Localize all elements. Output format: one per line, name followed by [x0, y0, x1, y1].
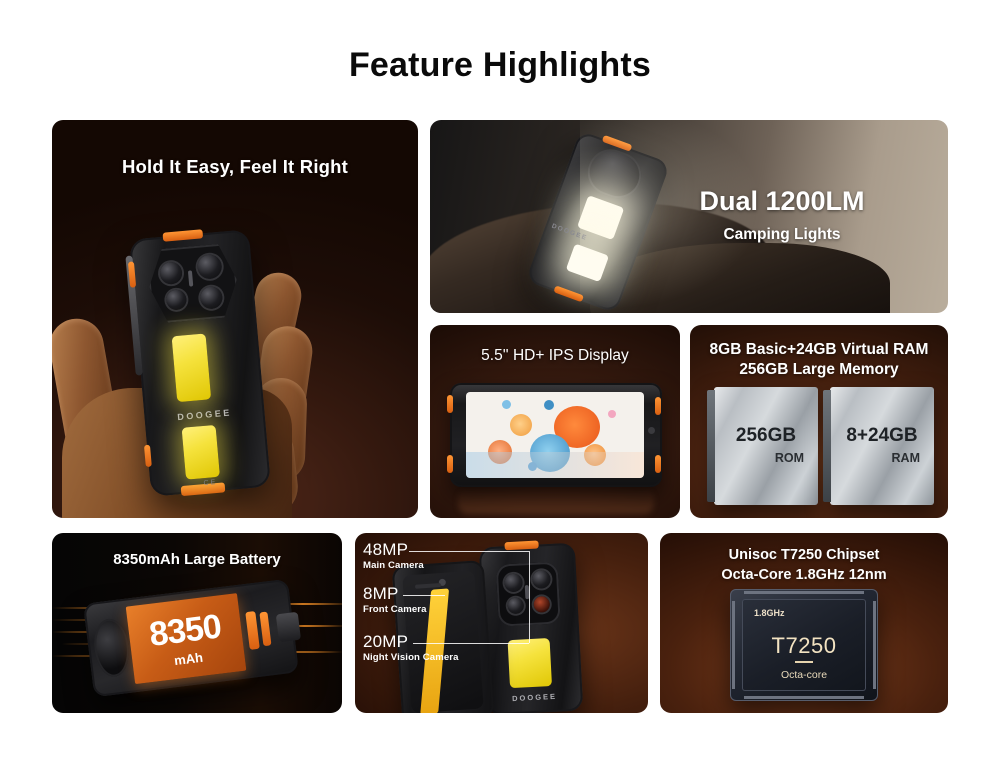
panel-camping-lights: DOOGEE Dual 1200LM Camping Lights [430, 120, 948, 313]
callout-8mp-label: Front Camera [363, 604, 427, 615]
memory-card-ram: 8+24GB RAM [830, 387, 934, 505]
phone-screen [466, 392, 644, 478]
camera-module [146, 243, 240, 324]
memory-headline-line2: 256GB Large Memory [690, 361, 948, 379]
leader-line-48mp [409, 551, 529, 552]
led-light-lower [182, 425, 220, 480]
callout-48mp-value: 48MP [363, 541, 424, 559]
memory-headline-line1: 8GB Basic+24GB Virtual RAM [690, 341, 948, 359]
rom-capacity: 256GB [714, 425, 818, 447]
callout-20mp-label: Night Vision Camera [363, 652, 459, 663]
chipset-name: T7250 [742, 633, 866, 659]
camera-callout-20mp: 20MP Night Vision Camera [363, 633, 459, 663]
rugged-phone-back: DOOGEE CE [129, 229, 271, 496]
ram-type: RAM [830, 451, 934, 465]
camera-phone-brand: DOOGEE [486, 690, 582, 704]
panel-cameras: DOOGEE 48MP Main Camera 8MP Front Camera… [355, 533, 648, 713]
camping-headline: Dual 1200LM [632, 186, 932, 217]
chipset-die: 1.8GHz T7250 Octa-core [742, 599, 866, 691]
phone-brand-label: DOOGEE [144, 405, 264, 425]
chipset-illustration: 1.8GHz T7250 Octa-core [730, 589, 878, 701]
led-light-upper [172, 333, 212, 402]
chipset-headline-line2: Octa-Core 1.8GHz 12nm [660, 567, 948, 583]
chipset-frequency: 1.8GHz [754, 608, 785, 618]
callout-20mp-value: 20MP [363, 633, 459, 651]
camera-callout-8mp: 8MP Front Camera [363, 585, 427, 615]
camera-phone-led [508, 638, 552, 688]
panel-battery: 8350mAh Large Battery 8350 mAh [52, 533, 342, 713]
memory-card-rom: 256GB ROM [714, 387, 818, 505]
battery-block: 8350 mAh [126, 593, 247, 684]
hand-illustration: DOOGEE CE [52, 198, 418, 518]
hold-it-easy-headline: Hold It Easy, Feel It Right [52, 156, 418, 178]
chipset-headline-line1: Unisoc T7250 Chipset [660, 547, 948, 563]
leader-line-48mp-drop [529, 551, 530, 591]
chipset-divider [795, 661, 813, 663]
camera-callout-48mp: 48MP Main Camera [363, 541, 424, 571]
rom-type: ROM [714, 451, 818, 465]
battery-phone: 8350 mAh [83, 579, 299, 697]
camping-subtitle: Camping Lights [632, 226, 932, 244]
panel-display: 5.5'' HD+ IPS Display [430, 325, 680, 518]
battery-headline: 8350mAh Large Battery [52, 551, 342, 568]
leader-line-20mp-rise [529, 591, 530, 643]
camera-phone-back: DOOGEE [479, 543, 584, 713]
panel-hold-it-easy: Hold It Easy, Feel It Right [52, 120, 418, 518]
speaker-grille [91, 617, 132, 679]
feature-highlights-page: Feature Highlights Hold It Easy, Feel It… [0, 0, 1000, 760]
panel-memory: 8GB Basic+24GB Virtual RAM 256GB Large M… [690, 325, 948, 518]
page-title: Feature Highlights [0, 46, 1000, 85]
panel-chipset: Unisoc T7250 Chipset Octa-Core 1.8GHz 12… [660, 533, 948, 713]
ram-capacity: 8+24GB [830, 425, 934, 447]
display-headline: 5.5'' HD+ IPS Display [430, 347, 680, 365]
phone-reflection [458, 488, 654, 514]
chipset-core-count: Octa-core [742, 669, 866, 681]
callout-48mp-label: Main Camera [363, 560, 424, 571]
callout-8mp-value: 8MP [363, 585, 427, 603]
display-phone [450, 383, 662, 487]
